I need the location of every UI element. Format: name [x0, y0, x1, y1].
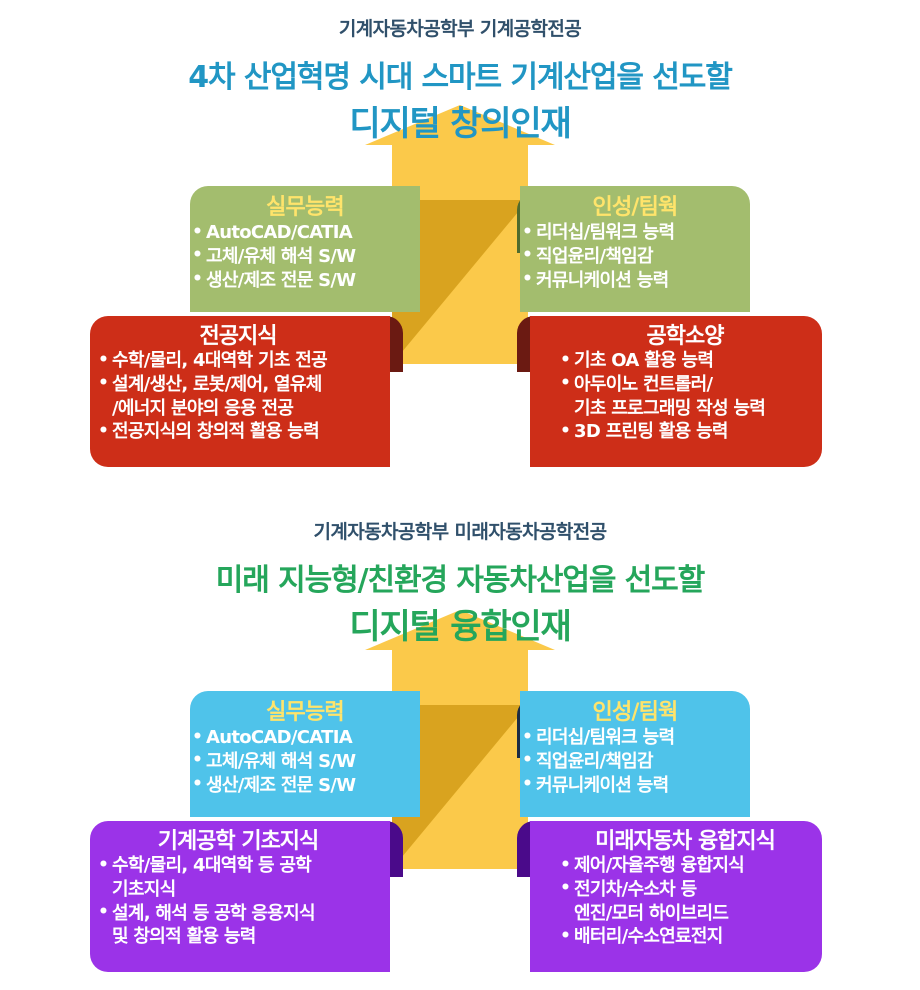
list-item-text: 커뮤니케이션 능력 [536, 270, 668, 291]
card-item-list: •기초 OA 활용 능력 •아두이노 컨트롤러/ 기초 프로그래밍 작성 능력 … [558, 350, 812, 444]
card-title: 인성/팀웍 [520, 701, 750, 725]
bullet-icon: • [522, 727, 532, 749]
bullet-icon: • [522, 774, 532, 796]
bullet-icon: • [192, 269, 202, 291]
bullet-icon: • [192, 774, 202, 796]
department-label-mechanical: 기계자동차공학부 기계공학전공 [0, 14, 920, 41]
list-item: •생산/제조 전문 S/W [190, 775, 420, 798]
list-item-continuation: 기초지식 [96, 879, 380, 902]
list-item-text: 고체/유체 해석 S/W [206, 751, 355, 772]
list-item: •수학/물리, 4대역학 등 공학 [96, 855, 380, 878]
list-item-text: 직업윤리/책임감 [536, 246, 653, 267]
list-item: •3D 프린팅 활용 능력 [558, 421, 812, 444]
list-item: •설계/생산, 로봇/제어, 열유체 [96, 374, 380, 397]
section-mechanical-engineering: 기계자동차공학부 기계공학전공 4차 산업혁명 시대 스마트 기계산업을 선도할… [0, 0, 920, 495]
list-item-text: 고체/유체 해석 S/W [206, 246, 355, 267]
card-item-list: •제어/자율주행 융합지식 •전기차/수소차 등 엔진/모터 하이브리드 •배터… [558, 855, 812, 949]
infographic-canvas: 기계자동차공학부 기계공학전공 4차 산업혁명 시대 스마트 기계산업을 선도할… [0, 0, 920, 990]
list-item: •고체/유체 해석 S/W [190, 751, 420, 774]
card-title: 미래자동차 융합지식 [558, 830, 812, 854]
list-item-text: 수학/물리, 4대역학 기초 전공 [112, 350, 327, 371]
card-item-list: •수학/물리, 4대역학 기초 전공 •설계/생산, 로봇/제어, 열유체 /에… [96, 350, 380, 444]
card-item-list: •리더십/팀워크 능력 •직업윤리/책임감 •커뮤니케이션 능력 [520, 727, 750, 797]
bullet-icon: • [192, 245, 202, 267]
bullet-icon: • [522, 269, 532, 291]
bullet-icon: • [560, 373, 570, 395]
list-item-text: 및 창의적 활용 능력 [112, 926, 256, 947]
list-item-text: 3D 프린팅 활용 능력 [574, 421, 728, 442]
card-future-lower-right[interactable]: 미래자동차 융합지식 •제어/자율주행 융합지식 •전기차/수소차 등 엔진/모… [530, 821, 822, 972]
list-item: •배터리/수소연료전지 [558, 926, 812, 949]
card-mech-upper-right[interactable]: 인성/팀웍 •리더십/팀워크 능력 •직업윤리/책임감 •커뮤니케이션 능력 [520, 186, 750, 312]
bullet-icon: • [560, 421, 570, 443]
list-item: •아두이노 컨트롤러/ [558, 374, 812, 397]
card-title: 실무능력 [190, 701, 420, 725]
list-item-text: 배터리/수소연료전지 [574, 926, 723, 947]
bullet-icon: • [192, 222, 202, 244]
card-future-lower-left[interactable]: 기계공학 기초지식 •수학/물리, 4대역학 등 공학 기초지식 •설계, 해석… [90, 821, 390, 972]
list-item-text: 기초 프로그래밍 작성 능력 [574, 398, 765, 419]
card-title: 실무능력 [190, 196, 420, 220]
list-item: •전기차/수소차 등 [558, 879, 812, 902]
list-item-text: 생산/제조 전문 S/W [206, 270, 355, 291]
bullet-icon: • [98, 421, 108, 443]
card-future-upper-right[interactable]: 인성/팀웍 •리더십/팀워크 능력 •직업윤리/책임감 •커뮤니케이션 능력 [520, 691, 750, 817]
list-item-text: AutoCAD/CATIA [206, 727, 352, 748]
list-item-continuation: 기초 프로그래밍 작성 능력 [558, 398, 812, 421]
bullet-icon: • [522, 222, 532, 244]
list-item: •AutoCAD/CATIA [190, 222, 420, 245]
list-item: •생산/제조 전문 S/W [190, 270, 420, 293]
bullet-icon: • [98, 350, 108, 372]
list-item-text: 전기차/수소차 등 [574, 879, 696, 900]
list-item: •직업윤리/책임감 [520, 246, 750, 269]
list-item-text: /에너지 분야의 응용 전공 [112, 398, 293, 419]
list-item-continuation: 엔진/모터 하이브리드 [558, 903, 812, 926]
list-item-text: 리더십/팀워크 능력 [536, 222, 674, 243]
list-item: •AutoCAD/CATIA [190, 727, 420, 750]
bullet-icon: • [560, 350, 570, 372]
bullet-icon: • [522, 245, 532, 267]
bullet-icon: • [98, 855, 108, 877]
list-item-text: 수학/물리, 4대역학 등 공학 [112, 855, 311, 876]
list-item-text: 커뮤니케이션 능력 [536, 775, 668, 796]
headline-line1-future-vehicle: 미래 지능형/친환경 자동차산업을 선도할 [0, 555, 920, 599]
list-item-continuation: 및 창의적 활용 능력 [96, 926, 380, 949]
bullet-icon: • [560, 926, 570, 948]
list-item-text: 아두이노 컨트롤러/ [574, 374, 712, 395]
list-item: •수학/물리, 4대역학 기초 전공 [96, 350, 380, 373]
card-item-list: •리더십/팀워크 능력 •직업윤리/책임감 •커뮤니케이션 능력 [520, 222, 750, 292]
bullet-icon: • [560, 855, 570, 877]
card-title: 공학소양 [558, 325, 812, 349]
headline-line2-future-vehicle: 디지털 융합인재 [0, 599, 920, 648]
list-item: •커뮤니케이션 능력 [520, 270, 750, 293]
bullet-icon: • [98, 373, 108, 395]
list-item-text: 설계/생산, 로봇/제어, 열유체 [112, 374, 322, 395]
list-item-text: 기초 OA 활용 능력 [574, 350, 713, 371]
list-item: •전공지식의 창의적 활용 능력 [96, 421, 380, 444]
card-title: 전공지식 [96, 325, 380, 349]
list-item-text: 리더십/팀워크 능력 [536, 727, 674, 748]
list-item: •리더십/팀워크 능력 [520, 727, 750, 750]
list-item-text: 직업윤리/책임감 [536, 751, 653, 772]
list-item-text: 기초지식 [112, 879, 175, 900]
bullet-icon: • [560, 878, 570, 900]
bullet-icon: • [192, 750, 202, 772]
bullet-icon: • [522, 750, 532, 772]
headline-line2-mechanical: 디지털 창의인재 [0, 96, 920, 145]
card-mech-upper-left[interactable]: 실무능력 •AutoCAD/CATIA •고체/유체 해석 S/W •생산/제조… [190, 186, 420, 312]
card-mech-lower-right[interactable]: 공학소양 •기초 OA 활용 능력 •아두이노 컨트롤러/ 기초 프로그래밍 작… [530, 316, 822, 467]
list-item: •커뮤니케이션 능력 [520, 775, 750, 798]
bullet-icon: • [192, 727, 202, 749]
list-item: •리더십/팀워크 능력 [520, 222, 750, 245]
card-item-list: •수학/물리, 4대역학 등 공학 기초지식 •설계, 해석 등 공학 응용지식… [96, 855, 380, 949]
bullet-icon: • [98, 902, 108, 924]
list-item: •직업윤리/책임감 [520, 751, 750, 774]
list-item-text: 설계, 해석 등 공학 응용지식 [112, 903, 315, 924]
list-item-text: 전공지식의 창의적 활용 능력 [112, 421, 319, 442]
card-item-list: •AutoCAD/CATIA •고체/유체 해석 S/W •생산/제조 전문 S… [190, 222, 420, 292]
list-item-text: AutoCAD/CATIA [206, 222, 352, 243]
list-item-continuation: /에너지 분야의 응용 전공 [96, 398, 380, 421]
card-title: 인성/팀웍 [520, 196, 750, 220]
list-item-text: 생산/제조 전문 S/W [206, 775, 355, 796]
list-item-text: 엔진/모터 하이브리드 [574, 903, 728, 924]
card-mech-lower-left[interactable]: 전공지식 •수학/물리, 4대역학 기초 전공 •설계/생산, 로봇/제어, 열… [90, 316, 390, 467]
headline-line1-mechanical: 4차 산업혁명 시대 스마트 기계산업을 선도할 [0, 52, 920, 96]
card-item-list: •AutoCAD/CATIA •고체/유체 해석 S/W •생산/제조 전문 S… [190, 727, 420, 797]
card-future-upper-left[interactable]: 실무능력 •AutoCAD/CATIA •고체/유체 해석 S/W •생산/제조… [190, 691, 420, 817]
list-item-text: 제어/자율주행 융합지식 [574, 855, 744, 876]
card-title: 기계공학 기초지식 [96, 830, 380, 854]
list-item: •설계, 해석 등 공학 응용지식 [96, 903, 380, 926]
list-item: •고체/유체 해석 S/W [190, 246, 420, 269]
list-item: •제어/자율주행 융합지식 [558, 855, 812, 878]
list-item: •기초 OA 활용 능력 [558, 350, 812, 373]
department-label-future-vehicle: 기계자동차공학부 미래자동차공학전공 [0, 517, 920, 544]
